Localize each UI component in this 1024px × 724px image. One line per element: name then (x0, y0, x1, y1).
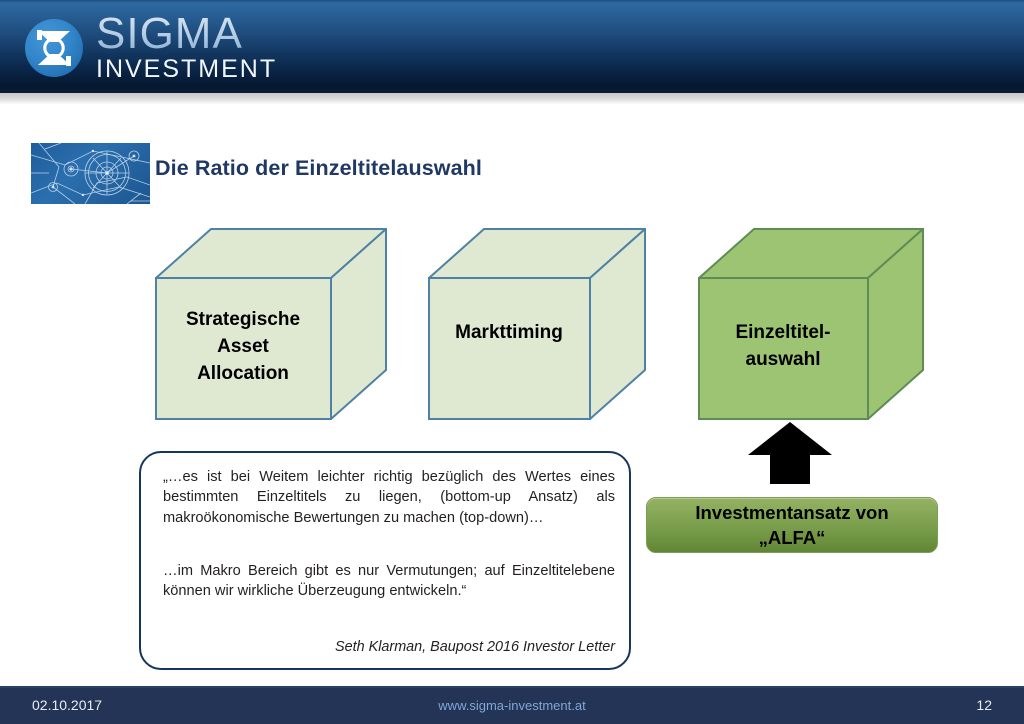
cube-einzeltitelauswahl: Einzeltitel- auswahl (698, 228, 924, 420)
blueprint-diagram-icon (31, 143, 150, 204)
header-bar: SIGMA INVESTMENT (0, 0, 1024, 93)
cube-markttiming: Markttiming (428, 228, 646, 420)
quote-paragraph-2: …im Makro Bereich gibt es nur Vermutunge… (163, 561, 615, 602)
header-divider-strip (0, 93, 1024, 104)
footer-top-line (0, 686, 1024, 688)
alfa-box-line: Investmentansatz von (695, 500, 888, 525)
footer-bar: 02.10.2017 www.sigma-investment.at 12 (0, 686, 1024, 724)
footer-website-link[interactable]: www.sigma-investment.at (0, 698, 1024, 713)
cube-strategische-asset-allocation: Strategische Asset Allocation (155, 228, 387, 420)
quote-paragraph-1: „…es ist bei Weitem leichter richtig bez… (163, 467, 615, 528)
brand-primary-text: SIGMA (96, 10, 277, 58)
quote-callout-box: „…es ist bei Weitem leichter richtig bez… (139, 451, 631, 670)
header-top-accent (0, 0, 1024, 3)
alfa-box-line: „ALFA“ (695, 525, 888, 550)
brand-secondary-text: INVESTMENT (96, 56, 277, 83)
page-title: Die Ratio der Einzeltitelauswahl (155, 156, 482, 181)
sigma-hourglass-logo-icon (25, 19, 83, 77)
investmentansatz-alfa-box: Investmentansatz von „ALFA“ (646, 497, 938, 553)
alfa-box-label: Investmentansatz von „ALFA“ (695, 500, 888, 550)
brand-lockup: SIGMA INVESTMENT (96, 10, 277, 83)
slide-title-row: Die Ratio der Einzeltitelauswahl (0, 143, 1024, 209)
up-arrow-icon (748, 422, 832, 489)
quote-attribution: Seth Klarman, Baupost 2016 Investor Lett… (163, 639, 615, 655)
footer-page-number: 12 (976, 697, 992, 713)
